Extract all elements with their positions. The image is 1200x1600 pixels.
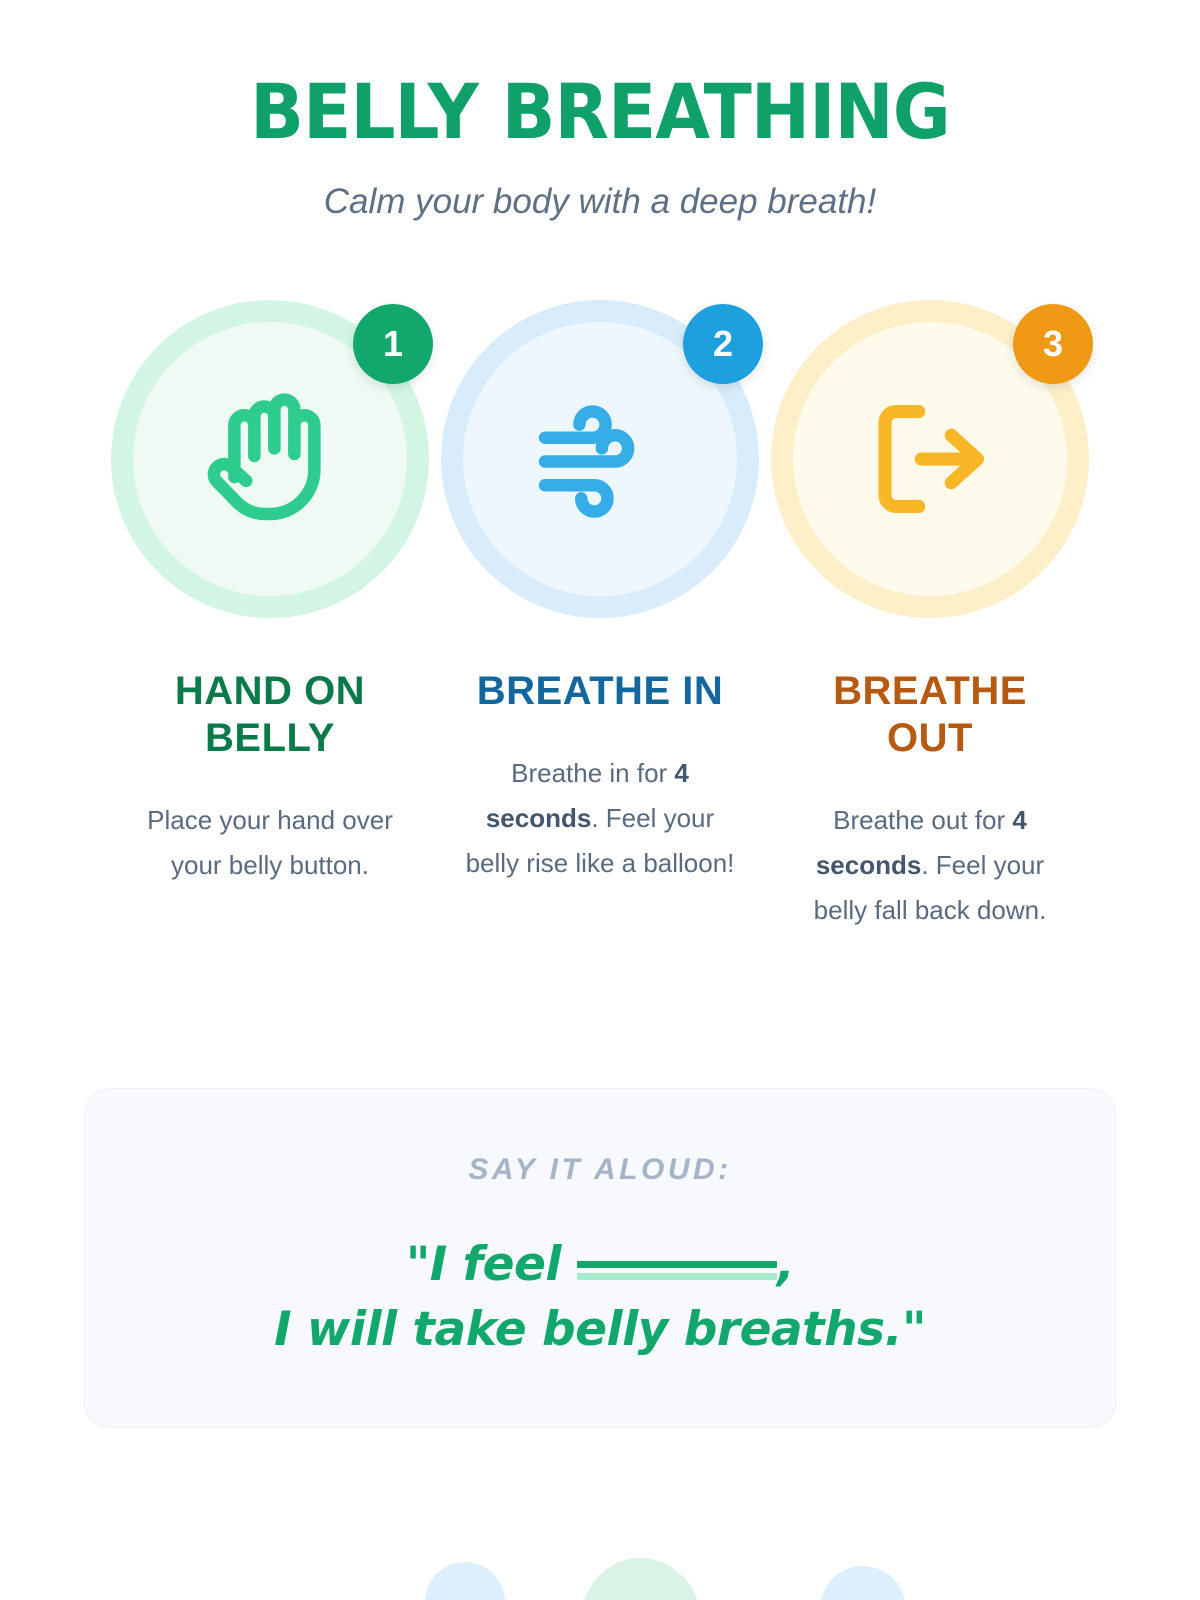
step-1-icon-circle: 1 <box>111 300 429 618</box>
decorative-blob-blue-right <box>820 1566 906 1600</box>
step-card-3: 3 BREATHE OUT Breathe out for 4 seconds.… <box>765 300 1095 933</box>
header: BELLY BREATHING Calm your body with a de… <box>0 74 1200 222</box>
step-2-icon-circle: 2 <box>441 300 759 618</box>
infographic-page: BELLY BREATHING Calm your body with a de… <box>0 0 1200 1600</box>
step-2-body: Breathe in for 4 seconds. Feel your bell… <box>458 751 743 885</box>
wind-icon <box>525 384 675 534</box>
affirmation-line-2: I will take belly breaths." <box>274 1302 926 1357</box>
logout-arrow-icon <box>855 384 1005 534</box>
step-number-badge-3: 3 <box>1013 304 1093 384</box>
step-3-body: Breathe out for 4 seconds. Feel your bel… <box>788 798 1073 932</box>
decorative-blob-mint <box>573 1550 707 1600</box>
say-it-aloud-label: SAY IT ALOUD: <box>468 1153 731 1187</box>
steps-row: 1 HAND ON BELLY Place your hand over you… <box>0 300 1200 933</box>
step-2-heading: BREATHE IN <box>477 668 723 715</box>
step-number-badge-2: 2 <box>683 304 763 384</box>
step-number-badge-1: 1 <box>353 304 433 384</box>
blank-rule <box>577 1261 777 1268</box>
raised-hand-icon <box>195 384 345 534</box>
affirmation-line-1: "I feel , <box>406 1237 794 1292</box>
step-1-body-text: Place your hand over your belly button. <box>147 805 393 880</box>
step-card-2: 2 BREATHE IN Breathe in for 4 seconds. F… <box>435 300 765 885</box>
step-3-icon-circle: 3 <box>771 300 1089 618</box>
step-3-heading: BREATHE OUT <box>795 668 1065 762</box>
fill-in-blank[interactable] <box>577 1267 777 1280</box>
decorative-blob-blue-left <box>425 1562 505 1600</box>
step-card-1: 1 HAND ON BELLY Place your hand over you… <box>105 300 435 888</box>
step-2-body-text: Breathe in for <box>511 758 674 788</box>
affirmation-line-1-after: , <box>777 1237 794 1292</box>
blank-rule-highlight <box>577 1273 777 1280</box>
step-3-body-text: Breathe out for <box>833 805 1012 835</box>
affirmation-card: SAY IT ALOUD: "I feel , I will take bell… <box>84 1088 1116 1428</box>
page-subtitle: Calm your body with a deep breath! <box>0 182 1200 222</box>
affirmation-quote: "I feel , I will take belly breaths." <box>274 1233 926 1363</box>
step-1-heading: HAND ON BELLY <box>135 668 405 762</box>
step-1-body: Place your hand over your belly button. <box>128 798 413 887</box>
affirmation-line-1-before: "I feel <box>406 1237 577 1292</box>
decorative-shapes <box>0 1540 1200 1600</box>
page-title: BELLY BREATHING <box>42 74 1158 150</box>
